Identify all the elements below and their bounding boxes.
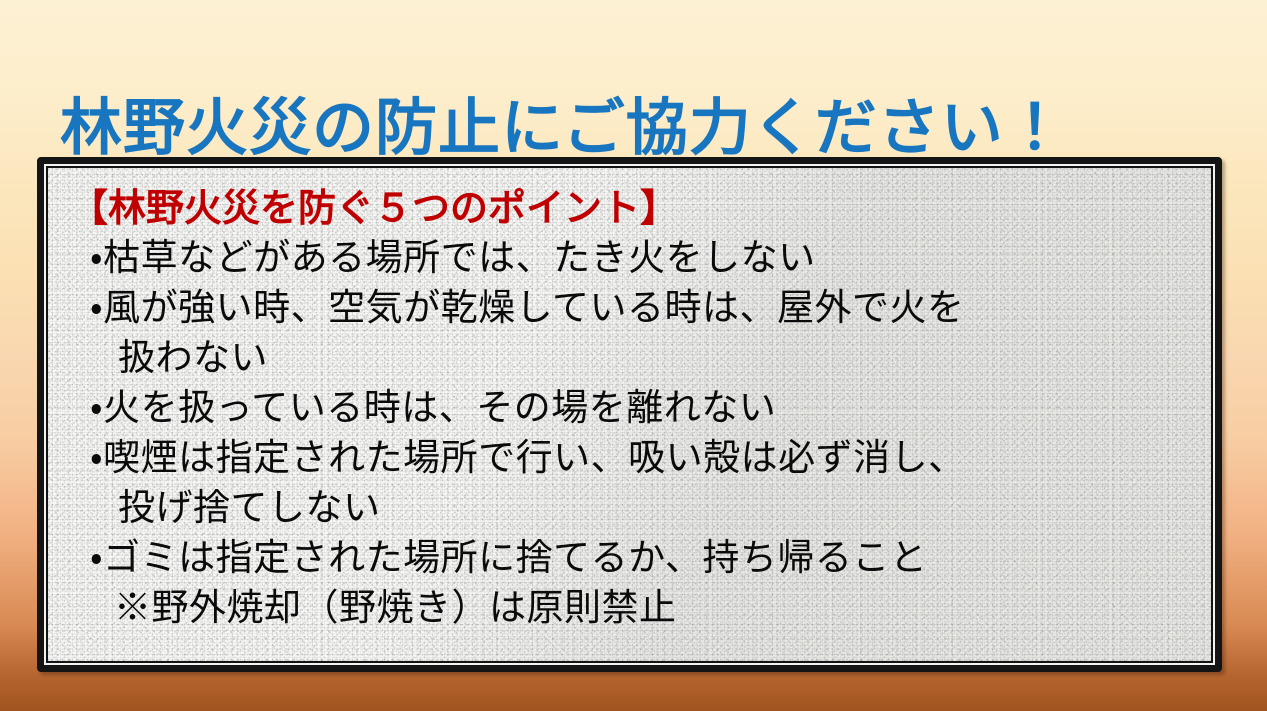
panel-heading: 【林野火災を防ぐ５つのポイント】 [70,184,1193,234]
framed-content-panel: 【林野火災を防ぐ５つのポイント】 ・枯草などがある場所では、たき火をしない ・風… [37,157,1222,672]
list-item-continuation: 投げ捨てしない [70,484,1193,534]
panel-text-content: 【林野火災を防ぐ５つのポイント】 ・枯草などがある場所では、たき火をしない ・風… [48,168,1211,644]
list-item: ・風が強い時、空気が乾燥している時は、屋外で火を [70,284,1193,334]
footnote: ※野外焼却（野焼き）は原則禁止 [70,584,1193,634]
paper-texture-background: 【林野火災を防ぐ５つのポイント】 ・枯草などがある場所では、たき火をしない ・風… [48,168,1211,661]
list-item: ・喫煙は指定された場所で行い、吸い殻は必ず消し、 [70,434,1193,484]
list-item-continuation: 扱わない [70,334,1193,384]
list-item: ・ゴミは指定された場所に捨てるか、持ち帰ること [70,534,1193,584]
list-item: ・枯草などがある場所では、たき火をしない [70,234,1193,284]
panel-inner-border: 【林野火災を防ぐ５つのポイント】 ・枯草などがある場所では、たき火をしない ・風… [44,164,1215,665]
list-item: ・火を扱っている時は、その場を離れない [70,384,1193,434]
slide-canvas: 林野火災の防止にご協力ください！ 【林野火災を防ぐ５つのポイント】 ・枯草などが… [0,0,1267,711]
